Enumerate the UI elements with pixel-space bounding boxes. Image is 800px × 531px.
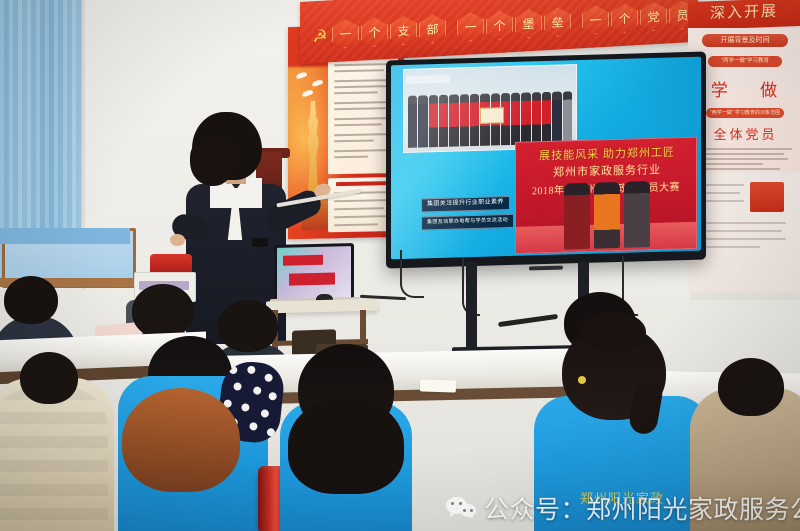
attendee-center-dark-hair: 郑州阳光家政 bbox=[272, 344, 418, 531]
paper-on-desk bbox=[420, 379, 456, 392]
slogan-char: 个 bbox=[361, 17, 388, 48]
slogan-char: 垒 bbox=[544, 7, 571, 38]
award-plaque bbox=[480, 107, 504, 124]
award-person bbox=[594, 182, 620, 249]
hair-clip bbox=[578, 376, 586, 384]
slogan-char: 个 bbox=[611, 3, 638, 34]
board-pill-3: "两学一做" 学习教育的对象范围 bbox=[706, 108, 784, 118]
slogan-char: 堡 bbox=[515, 8, 542, 39]
slogan-char: 部 bbox=[419, 14, 446, 45]
board-red-block bbox=[750, 182, 784, 212]
board-pill-1: 开展背景及时间 bbox=[702, 34, 788, 47]
board-pill-2: "两学一做"学习教育 bbox=[708, 56, 782, 67]
watermark: 公众号：郑州阳光家政服务公司 bbox=[446, 490, 800, 526]
slide-group-photo bbox=[403, 64, 577, 153]
attendee-hair bbox=[122, 388, 240, 492]
attendee-hair bbox=[288, 398, 404, 494]
slogan-char: 一 bbox=[582, 5, 609, 36]
hair-bun bbox=[582, 312, 646, 352]
laptop-display bbox=[277, 246, 351, 300]
slide-logo-badge bbox=[406, 75, 450, 84]
wechat-icon bbox=[446, 496, 476, 521]
window-blind bbox=[0, 228, 130, 244]
speaker-left-hand bbox=[170, 234, 185, 246]
attendee-head bbox=[718, 358, 784, 416]
laptop-screen[interactable] bbox=[274, 243, 354, 303]
photo-scene: ☭ 一 个 支 部 一 个 堡 垒 一 个 党 员 一 面 旗 帜 深入开展 开… bbox=[0, 0, 800, 531]
speaker-hair-side bbox=[190, 138, 234, 186]
board-paragraph bbox=[696, 148, 792, 172]
attendee-head bbox=[20, 352, 78, 404]
slogan-char: 党 bbox=[640, 1, 667, 32]
award-person bbox=[564, 183, 590, 250]
slogan-hex-row: 一 个 支 部 一 个 堡 垒 一 个 党 员 一 面 旗 帜 bbox=[332, 0, 698, 49]
slide-award-photo: 展技能风采 助力郑州工匠 郑州市家政服务行业 2018年度郑州市家政服务员大赛 bbox=[515, 137, 697, 254]
slogan-char: 一 bbox=[332, 19, 359, 50]
slogan-char: 一 bbox=[457, 12, 484, 43]
tv-cable bbox=[400, 250, 424, 298]
slide-bullet-2: 集团互动联办电帮与学员交流活动 bbox=[421, 214, 514, 231]
presentation-clicker[interactable] bbox=[252, 238, 268, 247]
tv-screen: 集团关注提升行业职业素养 集团互动联办电帮与学员交流活动 展技能风采 助力郑州工… bbox=[391, 57, 701, 260]
slogan-char: 支 bbox=[390, 15, 417, 46]
slide-bullet-1: 集团关注提升行业职业素养 bbox=[421, 196, 510, 212]
attendee-blue-vest-polkadot-scarf: 郑州阳光家政 bbox=[104, 330, 280, 531]
board-header: 深入开展 bbox=[688, 0, 800, 30]
wall-mounted-display[interactable]: 集团关注提升行业职业素养 集团互动联办电帮与学员交流活动 展技能风采 助力郑州工… bbox=[386, 52, 706, 269]
watermark-text: 公众号：郑州阳光家政服务公司 bbox=[484, 490, 800, 526]
slogan-char: 个 bbox=[486, 10, 513, 41]
attendee-left-cream-coat bbox=[0, 356, 114, 531]
award-person bbox=[624, 181, 650, 248]
hammer-sickle-icon: ☭ bbox=[310, 26, 330, 47]
